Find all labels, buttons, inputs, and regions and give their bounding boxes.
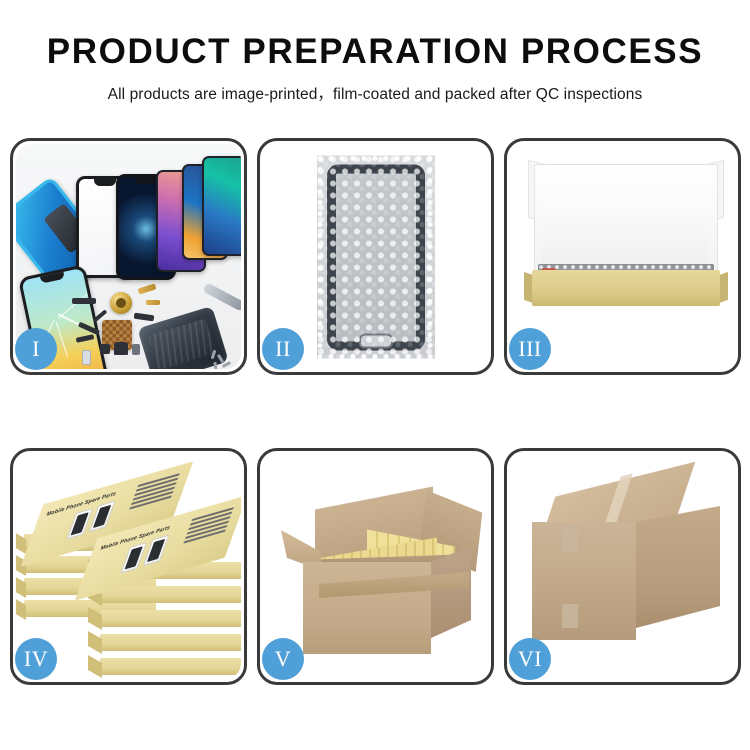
box-spec-lines bbox=[128, 473, 180, 512]
process-step-grid: I II III bbox=[10, 138, 740, 685]
process-step-panel-1: I bbox=[10, 138, 247, 375]
carton-front-face bbox=[303, 562, 431, 654]
sealed-carton-front-face bbox=[532, 522, 636, 640]
carton-right-face bbox=[431, 546, 471, 638]
small-part-sensor bbox=[132, 344, 140, 355]
stacked-box-edge bbox=[100, 658, 241, 675]
box-spec-lines bbox=[182, 507, 234, 546]
page-subtitle: All products are image-printed，film-coat… bbox=[0, 82, 750, 104]
carton-tape-mark-upper bbox=[562, 526, 578, 552]
infographic-header: PRODUCT PREPARATION PROCESS All products… bbox=[0, 0, 750, 104]
bubble-film-texture bbox=[317, 155, 435, 358]
step-badge-3: III bbox=[509, 328, 551, 370]
step-badge-4: IV bbox=[15, 638, 57, 680]
process-step-panel-3: III bbox=[504, 138, 741, 375]
sealed-carton-right-face bbox=[636, 506, 720, 628]
box-inner-liner bbox=[542, 196, 708, 272]
process-step-panel-2: II bbox=[257, 138, 494, 375]
page-title: PRODUCT PREPARATION PROCESS bbox=[0, 34, 750, 69]
small-part-speaker bbox=[72, 298, 96, 304]
bubble-wrapped-screen-image bbox=[317, 155, 435, 358]
phone-teal-gradient-image bbox=[202, 156, 241, 256]
step-badge-1: I bbox=[15, 328, 57, 370]
carton-tape-mark-lower bbox=[562, 604, 578, 628]
small-part-camera bbox=[114, 342, 128, 355]
process-step-panel-5: V bbox=[257, 448, 494, 685]
stacked-box-edge bbox=[100, 586, 241, 603]
process-step-panel-6: VI bbox=[504, 448, 741, 685]
vibration-coil-part-image bbox=[110, 292, 132, 314]
stacked-box-edge bbox=[100, 634, 241, 651]
stacked-box-edge bbox=[100, 610, 241, 627]
kraft-box-stack-image: Mobile Phone Spare Parts Mobile Phone Sp… bbox=[22, 468, 241, 676]
process-step-panel-4: Mobile Phone Spare Parts Mobile Phone Sp… bbox=[10, 448, 247, 685]
kraft-box-base bbox=[532, 270, 720, 306]
step-badge-6: VI bbox=[509, 638, 551, 680]
step-badge-2: II bbox=[262, 328, 304, 370]
small-part-sim-tray bbox=[82, 350, 91, 365]
step-badge-5: V bbox=[262, 638, 304, 680]
small-part-button bbox=[100, 344, 110, 354]
small-part-connector-gold bbox=[146, 300, 160, 305]
